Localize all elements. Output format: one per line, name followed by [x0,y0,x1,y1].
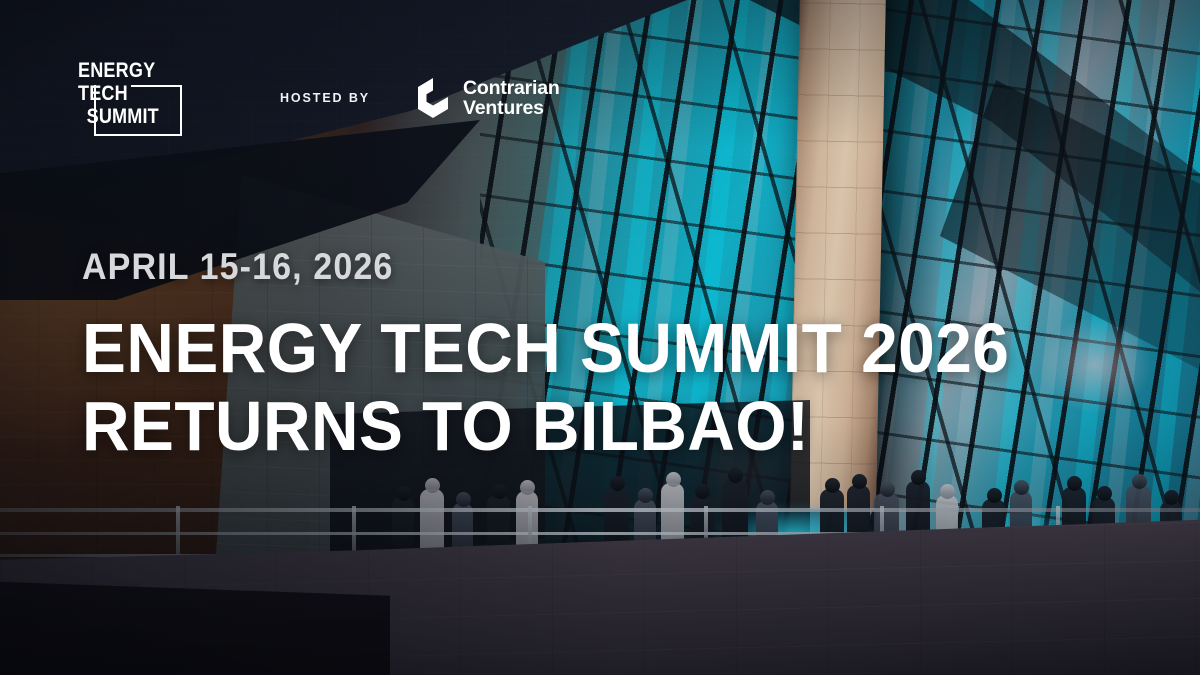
contrarian-ventures-logo[interactable]: Contrarian Ventures [416,78,560,118]
contrarian-ventures-chevron-mark [416,78,450,118]
logo-word-summit: SUMMIT [78,106,159,128]
logo-wordmark: ENERGY TECH SUMMIT [78,60,172,128]
contrarian-ventures-wordmark: Contrarian Ventures [463,78,560,118]
hero-copy: APRIL 15-16, 2026 ENERGY TECH SUMMIT 202… [82,246,1069,465]
energy-tech-summit-logo[interactable]: ENERGY TECH SUMMIT [78,60,182,136]
host-name-line1: Contrarian [463,78,560,98]
poster-overlay: ENERGY TECH SUMMIT HOSTED BY Contrarian … [0,0,1200,675]
event-date: APRIL 15-16, 2026 [82,246,990,288]
poster-canvas: ENERGY TECH SUMMIT HOSTED BY Contrarian … [0,0,1200,675]
host-name-line2: Ventures [463,98,560,118]
hosted-by-label: HOSTED BY [280,91,370,105]
page-title: ENERGY TECH SUMMIT 2026 RETURNS TO BILBA… [82,309,1069,465]
title-line-2: RETURNS TO BILBAO! [82,387,1009,465]
logo-frame-tick [94,104,96,136]
logo-word-energy: ENERGY [78,60,159,82]
poster-header: ENERGY TECH SUMMIT HOSTED BY Contrarian … [78,60,560,136]
title-line-1: ENERGY TECH SUMMIT 2026 [82,309,1009,387]
logo-word-tech: TECH [78,83,159,105]
